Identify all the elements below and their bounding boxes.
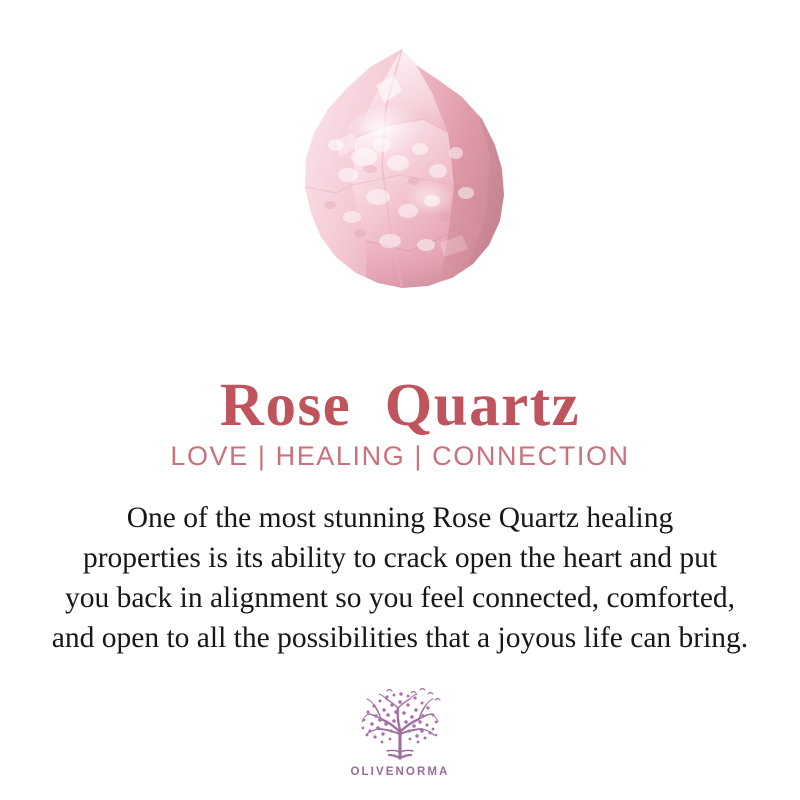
description-line: One of the most stunning Rose Quartz hea… — [24, 498, 776, 538]
description-line: and open to all the possibilities that a… — [24, 618, 776, 658]
description-paragraph: One of the most stunning Rose Quartz hea… — [24, 498, 776, 658]
description-line: you back in alignment so you feel connec… — [24, 578, 776, 618]
rose-quartz-info-card: Rose Quartz LOVE | HEALING | CONNECTION … — [0, 0, 800, 800]
brand-logo: OLIVENORMA — [0, 686, 800, 778]
page-title: Rose Quartz — [0, 373, 800, 439]
tree-of-life-icon — [354, 686, 446, 764]
brand-name: OLIVENORMA — [0, 766, 800, 778]
description-line: properties is its ability to crack open … — [24, 538, 776, 578]
rose-quartz-crystal-image — [290, 45, 522, 293]
keyword-tagline: LOVE | HEALING | CONNECTION — [0, 440, 800, 472]
